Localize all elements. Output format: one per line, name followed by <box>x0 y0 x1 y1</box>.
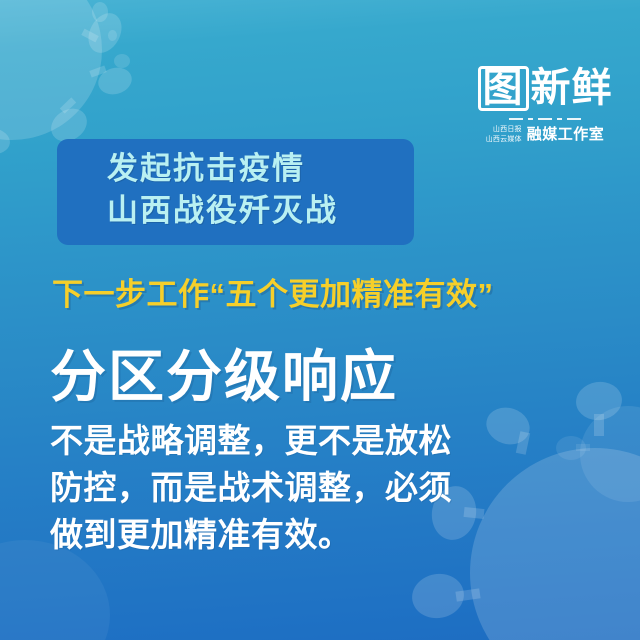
poster-canvas: 图新鲜 山西日报 山西云媒体 融媒工作室 发起抗击疫情 山西战役歼灭战 下一步工… <box>0 0 640 640</box>
headline-line-2: 山西战役歼灭战 <box>107 191 414 233</box>
sub-headline: 下一步工作“五个更加精准有效” <box>52 269 494 314</box>
brand-logo: 图新鲜 山西日报 山西云媒体 融媒工作室 <box>474 66 616 144</box>
logo-publisher-line-1: 山西日报 <box>486 125 522 134</box>
logo-rule-bar <box>567 118 581 120</box>
logo-subtitle: 山西日报 山西云媒体 融媒工作室 <box>474 125 616 144</box>
logo-mark-char: 图 <box>478 66 529 111</box>
virus-spike <box>114 54 130 68</box>
logo-rule-bar <box>509 118 523 120</box>
virus-spike <box>409 570 468 622</box>
virus-spike <box>108 30 117 41</box>
logo-publisher-lines: 山西日报 山西云媒体 <box>486 125 522 144</box>
logo-rule-bar <box>538 118 552 120</box>
virus-spike <box>92 2 108 22</box>
body-line-1: 不是战略调整，更不是放松 <box>50 418 470 465</box>
virus-particle-icon <box>556 392 640 522</box>
headline-line-1: 发起抗击疫情 <box>107 149 414 191</box>
logo-main-text: 新鲜 <box>531 66 613 110</box>
body-paragraph: 不是战略调整，更不是放松 防控，而是战术调整，必须 做到更加精准有效。 <box>50 418 470 559</box>
logo-rule-dash <box>557 118 562 120</box>
page-title: 分区分级响应 <box>50 332 398 413</box>
virus-spike <box>556 436 586 460</box>
logo-divider-rule <box>474 118 616 120</box>
headline-box: 发起抗击疫情 山西战役歼灭战 <box>57 139 414 245</box>
body-line-3: 做到更加精准有效。 <box>50 512 470 559</box>
virus-core <box>580 406 640 502</box>
logo-rule-dash <box>528 118 533 120</box>
logo-wordmark: 图新鲜 <box>474 66 616 111</box>
body-line-2: 防控，而是战术调整，必须 <box>50 465 470 512</box>
logo-studio-text: 融媒工作室 <box>527 127 605 142</box>
logo-publisher-line-2: 山西云媒体 <box>486 135 522 144</box>
